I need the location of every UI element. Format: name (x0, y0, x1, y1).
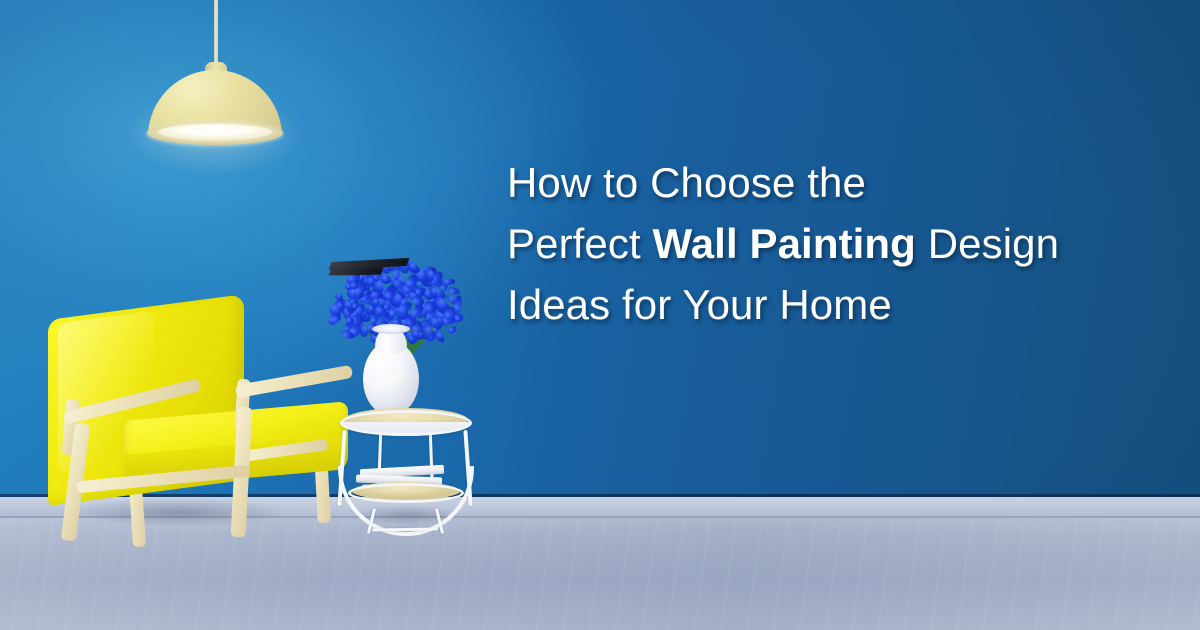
yellow-armchair (20, 295, 340, 595)
banner-image: How to Choose the Perfect Wall Painting … (0, 0, 1200, 630)
headline-line-2: Perfect Wall Painting Design (507, 213, 1197, 274)
flower-petal (351, 299, 359, 309)
headline-line-2-prefix: Perfect (507, 220, 653, 267)
lamp-cord (214, 0, 218, 70)
flower-petal (447, 325, 458, 335)
table-lower-shelf-rim (348, 483, 464, 503)
book-bottom-cover (329, 268, 384, 276)
flower-petal (454, 295, 463, 313)
page-title: How to Choose the Perfect Wall Painting … (507, 152, 1197, 335)
lamp-bulb-glow (158, 124, 272, 140)
headline-line-1-text: How to Choose the (507, 159, 866, 206)
headline-line-3: Ideas for Your Home (507, 274, 1197, 335)
round-side-table (330, 260, 480, 535)
headline-line-1: How to Choose the (507, 152, 1197, 213)
pendant-lamp (0, 0, 300, 150)
headline-emphasis: Wall Painting (653, 220, 916, 267)
flower-petal (441, 278, 455, 285)
table-top-rim (340, 410, 472, 436)
vase-lip (372, 324, 410, 334)
headline-line-2-suffix: Design (916, 220, 1059, 267)
flower-petal (421, 324, 433, 339)
headline-line-3-text: Ideas for Your Home (507, 281, 892, 328)
